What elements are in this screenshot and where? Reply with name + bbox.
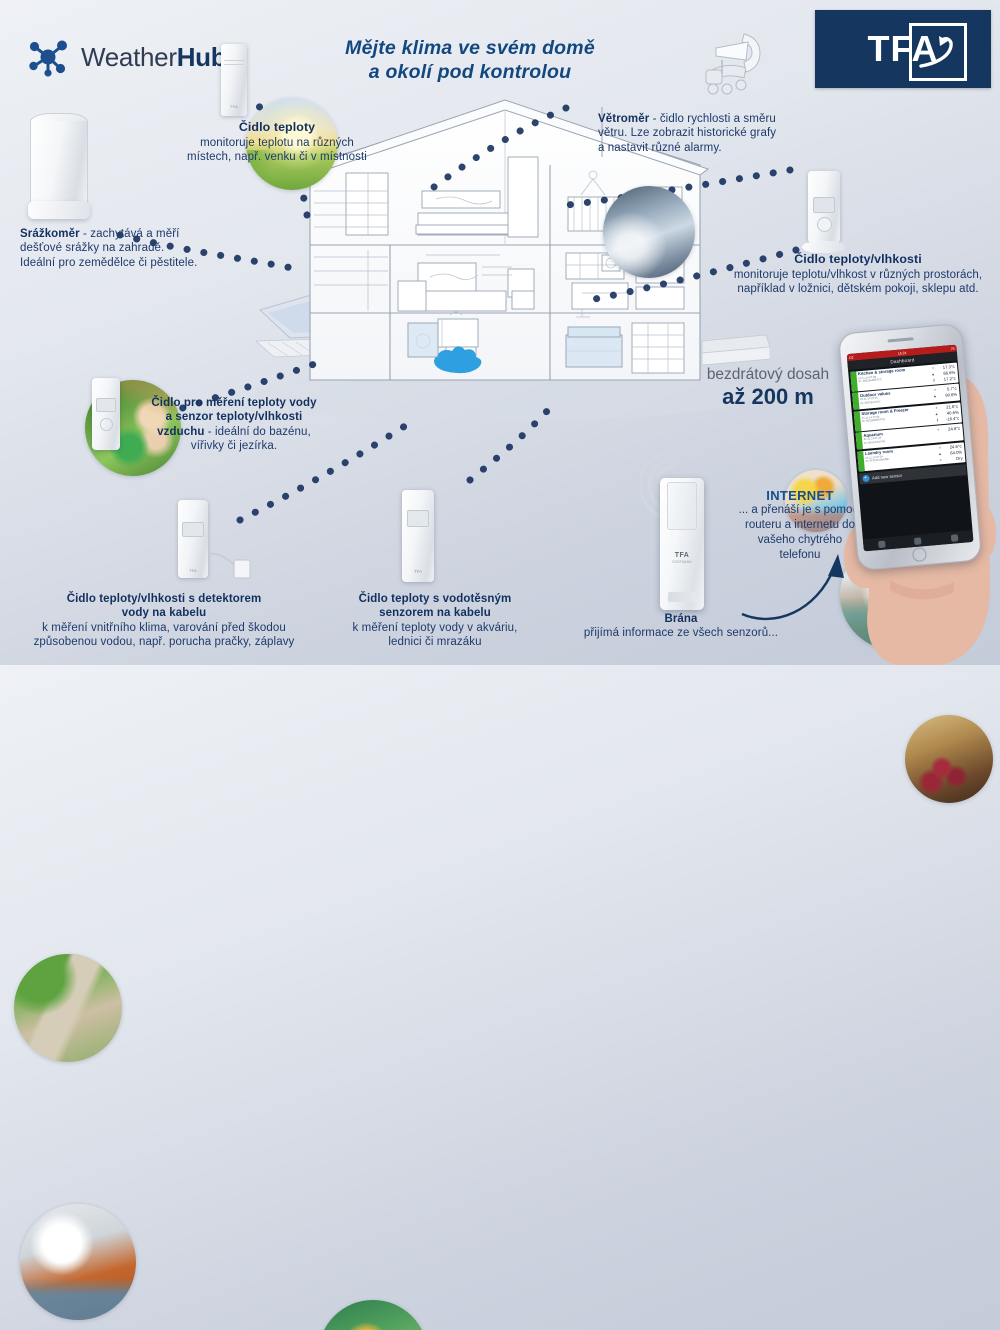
sensor-readings: ᵈ24.6°c●64.0%≈Dry (927, 442, 965, 465)
callout-rain-title: Srážkoměr (20, 228, 80, 240)
sensor-reading-value: 17.2°c (937, 376, 956, 383)
humidity-icon: ● (933, 393, 936, 398)
callout-cable-probe-line-1: k měření teploty vody v akváriu, (353, 622, 518, 634)
humidity-icon: ● (935, 411, 938, 416)
callout-rain-dash: - (80, 228, 91, 240)
phone-clock: 15:24 (898, 350, 907, 355)
nav-home-icon[interactable] (878, 540, 886, 548)
callout-rain-line-2: dešťové srážky na zahradě. (20, 242, 164, 254)
weatherhub-mark (26, 34, 72, 80)
thermometer-icon: ᵈ (932, 366, 934, 371)
photo-aquarium (318, 1300, 428, 1330)
probe-icon: ‖ (936, 417, 938, 422)
add-sensor-label: Add new sensor (872, 472, 902, 480)
callout-wind-title: Větroměr (598, 113, 649, 125)
nav-list-icon[interactable] (914, 537, 922, 545)
weatherhub-light: Weather (81, 42, 177, 72)
callout-water-detector-title-2: vody na kabelu (122, 607, 206, 619)
callout-rain: Srážkoměr - zachytává a měří dešťové srá… (20, 227, 250, 270)
callout-cable-probe-title-1: Čidlo teploty s vodotěsným (359, 593, 512, 605)
tfa-logo: TFA (815, 10, 991, 88)
plus-icon: + (862, 474, 870, 482)
callout-cable-probe-line-2: lednici či mrazáku (388, 636, 481, 648)
callout-temp-humidity: Čidlo teploty/vlhkosti monitoruje teplot… (716, 252, 1000, 297)
sensor-info: Laundry room21.11.14 07:24ID: 0F1F0C68A9… (863, 445, 929, 471)
humidity-icon: ● (939, 451, 942, 456)
photo-flooded-laundry (20, 1204, 136, 1320)
phone-screen[interactable]: O2 15:24 76 Dashboard Kitchen & storage … (847, 345, 974, 552)
callout-water-temp-title-2: a senzor teploty/vlhkosti (166, 411, 303, 423)
sensor-reading-value: 90.6% (938, 391, 957, 398)
callout-temp-humidity-title: Čidlo teploty/vlhkosti (716, 252, 1000, 268)
sensor-readings: ᵈ24.8°c (926, 423, 963, 443)
sensor-reading-value: -16.4°c (940, 416, 959, 423)
sensor-readings: ᵈ17.3°c●66.6%‖17.2°c (920, 362, 958, 385)
infographic-canvas: WeatherHub® TFA Mějte klima ve svém domě… (0, 0, 1000, 665)
sensor-list: Kitchen & storage room21.11.14 07:29ID: … (848, 361, 966, 472)
callout-water-temp: Čidlo pro měření teploty vody a senzor t… (122, 396, 346, 454)
callout-water-detector: Čidlo teploty/vlhkosti s detektorem vody… (18, 592, 310, 650)
callout-water-temp-line-1: ideální do bazénu, (215, 426, 311, 438)
headline-line-2: a okolí pod kontrolou (330, 60, 610, 84)
humidity-icon: ● (932, 372, 935, 377)
callout-water-detector-line-2: způsobenou vodou, např. porucha pračky, … (34, 636, 295, 648)
weatherhub-bold: Hub (177, 42, 227, 72)
callout-wind-line-1: čidlo rychlosti a směru (660, 113, 776, 125)
callout-water-temp-title-1: Čidlo pro měření teploty vody (151, 397, 316, 409)
callout-wind: Větroměr - čidlo rychlosti a směru větru… (598, 112, 816, 155)
callout-temperature-title: Čidlo teploty (160, 120, 394, 136)
callout-rain-line-1: zachytává a měří (90, 228, 179, 240)
thermometer-icon: ᵈ (937, 427, 939, 432)
phone-carrier: O2 (849, 355, 854, 359)
callout-cable-probe-title-2: senzorem na kabelu (379, 607, 491, 619)
thermometer-icon: ᵈ (939, 445, 941, 450)
callout-temp-humidity-line-1: monitoruje teplotu/vlhkost v různých pro… (734, 269, 982, 281)
photo-stormy-sky (603, 186, 695, 278)
phone-home-button[interactable] (912, 547, 927, 562)
sensor-reading-value: 24.8°c (941, 425, 960, 432)
cable-probe-device: TFA (402, 490, 434, 582)
callout-temperature-line-1: monitoruje teplotu na různých (200, 137, 354, 149)
callout-temp-humidity-line-2: například v ložnici, dětském pokoji, skl… (737, 283, 978, 295)
probe-icon: ‖ (933, 378, 935, 383)
anemometer-device (686, 26, 764, 98)
phone-battery: 76 (951, 346, 955, 350)
temp-humidity-sensor-device (808, 171, 840, 253)
callout-temperature-line-2: místech, např. venku či v místnosti (187, 151, 367, 163)
callout-water-detector-title-1: Čidlo teploty/vlhkosti s detektorem (67, 593, 262, 605)
headline-line-1: Mějte klima ve svém domě (330, 36, 610, 60)
water-temp-sensor-device (92, 378, 120, 450)
page-headline: Mějte klima ve svém domě a okolí pod kon… (330, 36, 610, 84)
tfa-wordmark: TFA (868, 28, 939, 70)
sensor-readings: ᵈ21.8°c●40.6%‖-16.4°c (924, 402, 962, 425)
phone-speaker (888, 337, 914, 342)
callout-wind-dash: - (649, 113, 660, 125)
photo-wine-cellar (905, 715, 993, 803)
temperature-sensor-device: TFA (221, 44, 247, 116)
water-detector-device: TFA (178, 500, 208, 578)
callout-wind-line-3: a nastavit různé alarmy. (598, 142, 722, 154)
sensor-readings: ᵈ5.7°c●90.6% (922, 384, 959, 404)
callout-water-detector-line-1: k měření vnitřního klima, varování před … (42, 622, 286, 634)
photo-garden-pond-path (14, 954, 122, 1062)
callout-water-temp-dash: - (205, 426, 216, 438)
gateway-device: TFA DOSTMANN (660, 478, 704, 610)
thermometer-icon: ᵈ (934, 387, 936, 392)
callout-rain-line-3: Ideální pro zemědělce či pěstitele. (20, 257, 197, 269)
water-icon: ≈ (939, 457, 942, 462)
callout-temperature: Čidlo teploty monitoruje teplotu na různ… (160, 120, 394, 165)
sensor-reading-value: Dry (944, 455, 963, 462)
callout-wind-line-2: větru. Lze zobrazit historické grafy (598, 127, 776, 139)
thermometer-icon: ᵈ (935, 405, 937, 410)
callout-water-temp-line-2: vířivky či jezírka. (191, 440, 277, 452)
water-detector-probe (206, 548, 254, 584)
rain-gauge-device (30, 113, 88, 219)
callout-cable-probe: Čidlo teploty s vodotěsným senzorem na k… (318, 592, 552, 650)
weatherhub-wordmark: WeatherHub® (81, 42, 233, 73)
callout-water-temp-title-3: vzduchu (157, 426, 204, 438)
smartphone: O2 15:24 76 Dashboard Kitchen & storage … (838, 323, 982, 571)
callout-gateway-title: Brána (664, 613, 697, 625)
nav-settings-icon[interactable] (951, 534, 959, 542)
sensor-reading: ᵈ24.8°c (926, 425, 960, 433)
weatherhub-logo: WeatherHub® (26, 34, 233, 80)
